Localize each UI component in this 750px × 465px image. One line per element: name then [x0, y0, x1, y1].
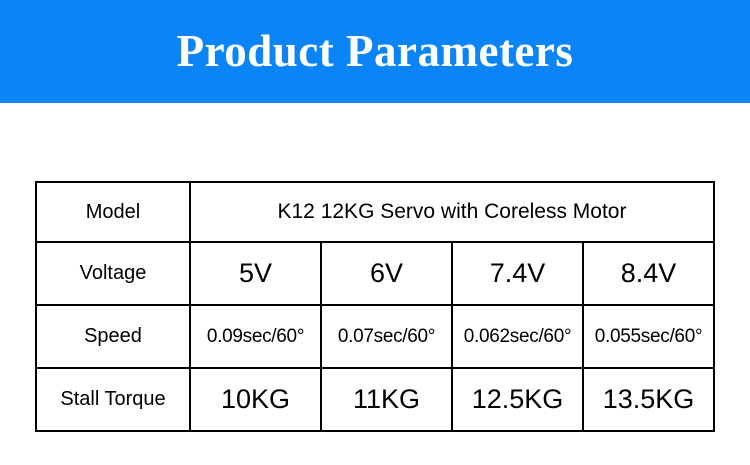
page-title: Product Parameters: [177, 29, 574, 74]
header-banner: Product Parameters: [0, 0, 750, 103]
cell-voltage-4: 8.4V: [583, 242, 714, 305]
specifications-table: Model K12 12KG Servo with Coreless Motor…: [35, 181, 715, 432]
cell-voltage-2: 6V: [321, 242, 452, 305]
cell-speed-2: 0.07sec/60°: [321, 305, 452, 368]
cell-model-value: K12 12KG Servo with Coreless Motor: [190, 182, 714, 242]
cell-speed-4: 0.055sec/60°: [583, 305, 714, 368]
table-row: Stall Torque 10KG 11KG 12.5KG 13.5KG: [36, 368, 714, 431]
cell-speed-3: 0.062sec/60°: [452, 305, 583, 368]
row-label-model: Model: [36, 182, 190, 242]
product-parameters-page: Product Parameters Model K12 12KG Servo …: [0, 0, 750, 465]
cell-torque-2: 11KG: [321, 368, 452, 431]
cell-torque-1: 10KG: [190, 368, 321, 431]
row-label-speed: Speed: [36, 305, 190, 368]
cell-speed-1: 0.09sec/60°: [190, 305, 321, 368]
table-row: Speed 0.09sec/60° 0.07sec/60° 0.062sec/6…: [36, 305, 714, 368]
cell-voltage-1: 5V: [190, 242, 321, 305]
table-row: Voltage 5V 6V 7.4V 8.4V: [36, 242, 714, 305]
cell-torque-3: 12.5KG: [452, 368, 583, 431]
row-label-stall-torque: Stall Torque: [36, 368, 190, 431]
cell-voltage-3: 7.4V: [452, 242, 583, 305]
row-label-voltage: Voltage: [36, 242, 190, 305]
table-row: Model K12 12KG Servo with Coreless Motor: [36, 182, 714, 242]
cell-torque-4: 13.5KG: [583, 368, 714, 431]
